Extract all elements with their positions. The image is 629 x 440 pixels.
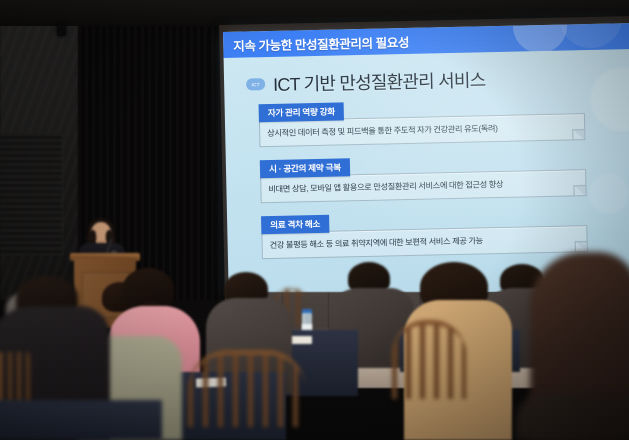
slide-card: 시 · 공간의 제약 극복 비대면 상담, 모바일 앱 활용으로 만성질환관리 …: [260, 152, 587, 203]
slide-card-text: 비대면 상담, 모바일 앱 활용으로 만성질환관리 서비스에 대한 접근성 향상: [268, 178, 503, 195]
header-decoration-circle-secondary: [558, 23, 623, 49]
slide-card-label: 자가 관리 역량 강화: [259, 103, 344, 122]
slide-decoration-circle-small: [588, 173, 629, 214]
slide-decoration-circle: [590, 67, 629, 132]
slide-title: ICT 기반 만성질환관리 서비스: [273, 66, 486, 97]
slide-card-label: 시 · 공간의 제약 극복: [260, 159, 350, 179]
presentation-photo-scene: 지속 가능한 만성질환관리의 필요성 ICT ICT 기반 만성질환관리 서비스…: [0, 0, 629, 440]
ceiling-spotlight-icon: [57, 24, 66, 36]
slide-header-title: 지속 가능한 만성질환관리의 필요성: [233, 32, 409, 55]
slide-card-text: 상시적인 데이터 측정 및 피드백을 통한 주도적 자가 건강관리 유도(독려): [267, 122, 498, 139]
slide-card-label: 의료 격차 해소: [261, 215, 329, 234]
chair-back: [392, 320, 466, 399]
slide-card-text: 건강 불평등 해소 등 의료 취약지역에 대한 보편적 서비스 제공 가능: [270, 234, 483, 251]
draped-table: [0, 400, 162, 440]
slide-title-row: ICT ICT 기반 만성질환관리 서비스: [246, 66, 486, 97]
attendee-torso: [516, 392, 629, 440]
corner-fold-icon: [572, 129, 584, 139]
chair-back: [188, 350, 306, 427]
slide-title-badge-icon: ICT: [246, 78, 265, 90]
slide-card: 의료 격차 해소 건강 불평등 해소 등 의료 취약지역에 대한 보편적 서비스…: [261, 208, 588, 259]
slide-card: 자가 관리 역량 강화 상시적인 데이터 측정 및 피드백을 통한 주도적 자가…: [259, 96, 586, 147]
louver-vent-panel: [0, 133, 63, 255]
header-decoration-circle: [512, 23, 567, 54]
corner-fold-icon: [575, 241, 587, 251]
corner-fold-icon: [573, 185, 585, 195]
